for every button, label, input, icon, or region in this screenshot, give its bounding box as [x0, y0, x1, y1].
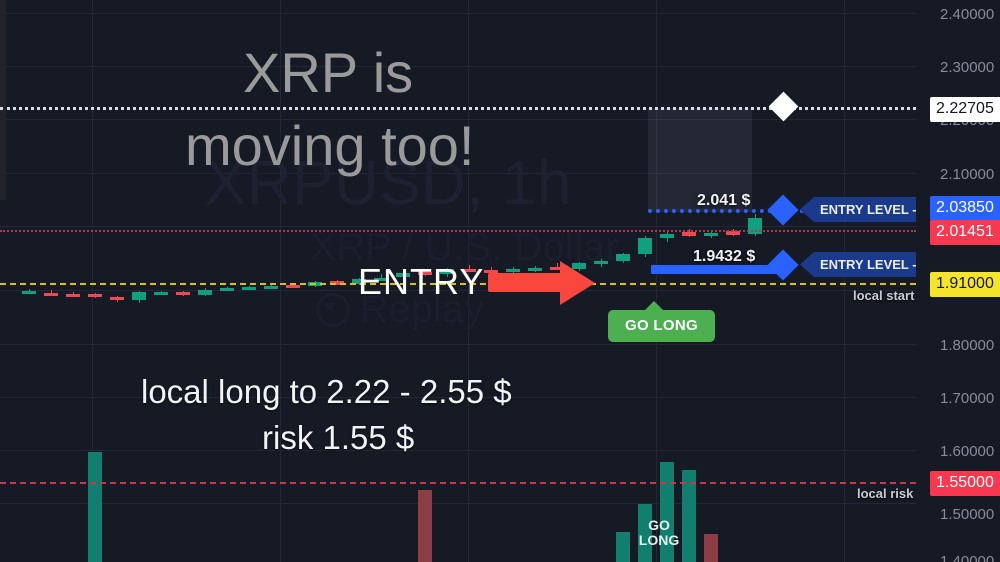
volume-bar — [418, 490, 432, 562]
entry-level-place-flag[interactable]: ENTRY LEVEL - Pla — [800, 197, 916, 222]
candle-body — [264, 286, 278, 289]
price-tick: 2.30000 — [940, 59, 994, 76]
price-tick: 1.70000 — [940, 390, 994, 407]
entry-arrow-shaft — [488, 273, 563, 292]
entry-level-place-label: ENTRY LEVEL - Pla — [820, 202, 916, 217]
chart-plot-area[interactable]: XRPUSD, 1h XRP / U.S. Dollar Replay 2.04… — [0, 0, 916, 562]
candle-body — [506, 269, 520, 272]
price-tick: 1.60000 — [940, 443, 994, 460]
entry-level-start-diamond[interactable] — [767, 249, 798, 280]
candle-body — [44, 293, 58, 296]
replay-icon — [316, 293, 350, 327]
gridline-vertical — [656, 0, 657, 562]
price-tick: 2.40000 — [940, 6, 994, 23]
local-start-box[interactable]: 1.91000 — [930, 272, 1000, 297]
go-long-badge[interactable]: GO LONG — [608, 310, 715, 342]
candle-body — [198, 290, 212, 295]
gridline-horizontal — [0, 13, 916, 14]
current-price-line[interactable] — [0, 230, 916, 232]
target-diamond-marker[interactable] — [769, 92, 799, 122]
candle-body — [660, 234, 674, 238]
tradingview-chart-screenshot: XRPUSD, 1h XRP / U.S. Dollar Replay 2.04… — [0, 0, 1000, 562]
candle-body — [154, 292, 168, 295]
gridline-horizontal — [0, 450, 916, 451]
entry-level-place-diamond[interactable] — [767, 194, 798, 225]
candle-body — [286, 285, 300, 288]
volume-bar — [616, 532, 630, 562]
volume-bar — [704, 534, 718, 562]
local-start-tag: local start — [853, 288, 914, 303]
candle-body — [638, 238, 652, 253]
candle-body — [88, 294, 102, 297]
volume-bar — [88, 452, 102, 562]
headline-line-1: XRP is — [243, 40, 413, 106]
candle-body — [594, 261, 608, 264]
price-tick: 1.40000 — [940, 553, 994, 562]
entry-annotation-text: ENTRY — [358, 261, 484, 303]
gridline-horizontal — [0, 344, 916, 345]
price-axis[interactable]: 2.40000 2.30000 2.20000 2.10000 2.00000 … — [916, 0, 1000, 562]
entry-price-box[interactable]: 2.03850 — [930, 196, 1000, 221]
candle-body — [616, 254, 630, 262]
headline-line-2: moving too! — [185, 113, 475, 179]
go-long-volume-label: GO LONG — [637, 518, 681, 547]
entry-level-start-flag[interactable]: ENTRY LEVEL - Sta — [800, 252, 916, 277]
entry-level-start-label: ENTRY LEVEL - Sta — [820, 257, 916, 272]
candle-body — [110, 297, 124, 300]
local-risk-line[interactable] — [0, 482, 916, 484]
price-tick: 1.80000 — [940, 337, 994, 354]
last-price-box[interactable]: 2.01451 — [930, 220, 1000, 245]
candle-body — [220, 288, 234, 291]
note-line-2: risk 1.55 $ — [262, 419, 414, 457]
candle-body — [176, 292, 190, 295]
candle-body — [242, 287, 256, 290]
candle-body — [704, 233, 718, 236]
go-long-volume-line2: LONG — [637, 533, 681, 548]
gridline-vertical — [844, 0, 845, 562]
gridline-horizontal — [0, 66, 916, 67]
note-line-1: local long to 2.22 - 2.55 $ — [141, 373, 512, 411]
local-risk-tag: local risk — [857, 486, 913, 501]
candle-body — [132, 292, 146, 301]
candle-body — [66, 294, 80, 297]
entry-position-bar — [651, 265, 786, 274]
take-profit-price-label: 2.041 $ — [697, 192, 750, 210]
candle-body — [682, 232, 696, 236]
gridline-horizontal — [0, 503, 916, 504]
left-edge-strip — [0, 0, 6, 200]
go-long-volume-line1: GO — [637, 518, 681, 533]
price-tick: 2.10000 — [940, 166, 994, 183]
target-price-box[interactable]: 2.22705 — [930, 97, 1000, 122]
local-risk-box[interactable]: 1.55000 — [930, 471, 1000, 496]
entry-price-label: 1.9432 $ — [693, 248, 755, 266]
entry-arrow-head-icon — [560, 261, 595, 305]
price-tick: 1.50000 — [940, 506, 994, 523]
candle-body — [528, 268, 542, 271]
candle-body — [22, 291, 36, 294]
